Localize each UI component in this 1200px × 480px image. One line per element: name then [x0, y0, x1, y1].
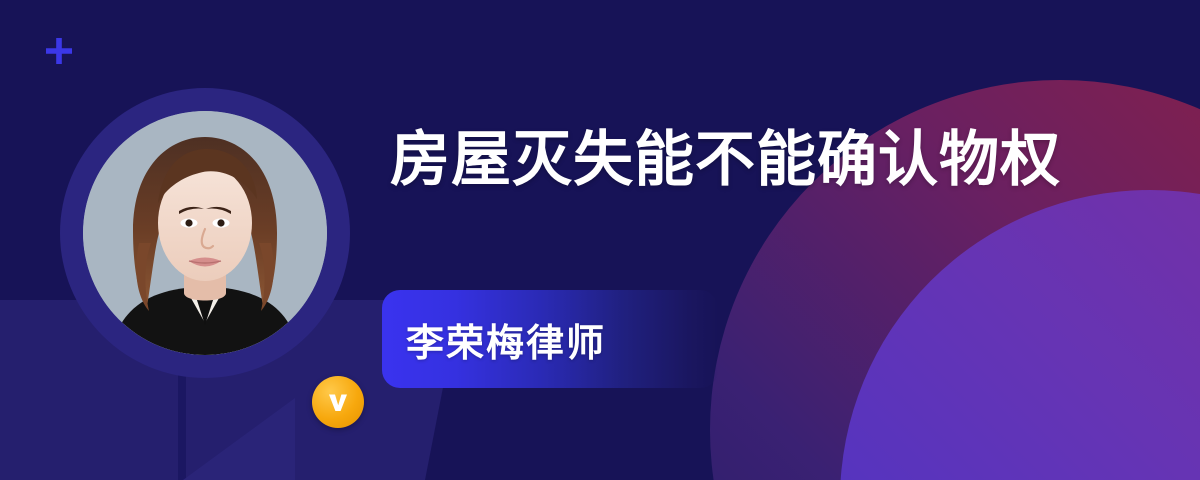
avatar-photo	[83, 111, 327, 355]
lawyer-qa-banner: 房屋灭失能不能确认物权 李荣梅律师	[0, 0, 1200, 480]
avatar[interactable]	[60, 88, 350, 378]
decorative-wedge-shape	[183, 398, 295, 480]
lawyer-name-badge[interactable]: 李荣梅律师	[382, 290, 718, 388]
decorative-orb-inner	[840, 190, 1200, 480]
lawyer-name-label: 李荣梅律师	[382, 312, 606, 367]
page-title: 房屋灭失能不能确认物权	[390, 126, 1061, 193]
plus-icon	[42, 36, 76, 70]
verified-check-icon	[312, 376, 364, 428]
